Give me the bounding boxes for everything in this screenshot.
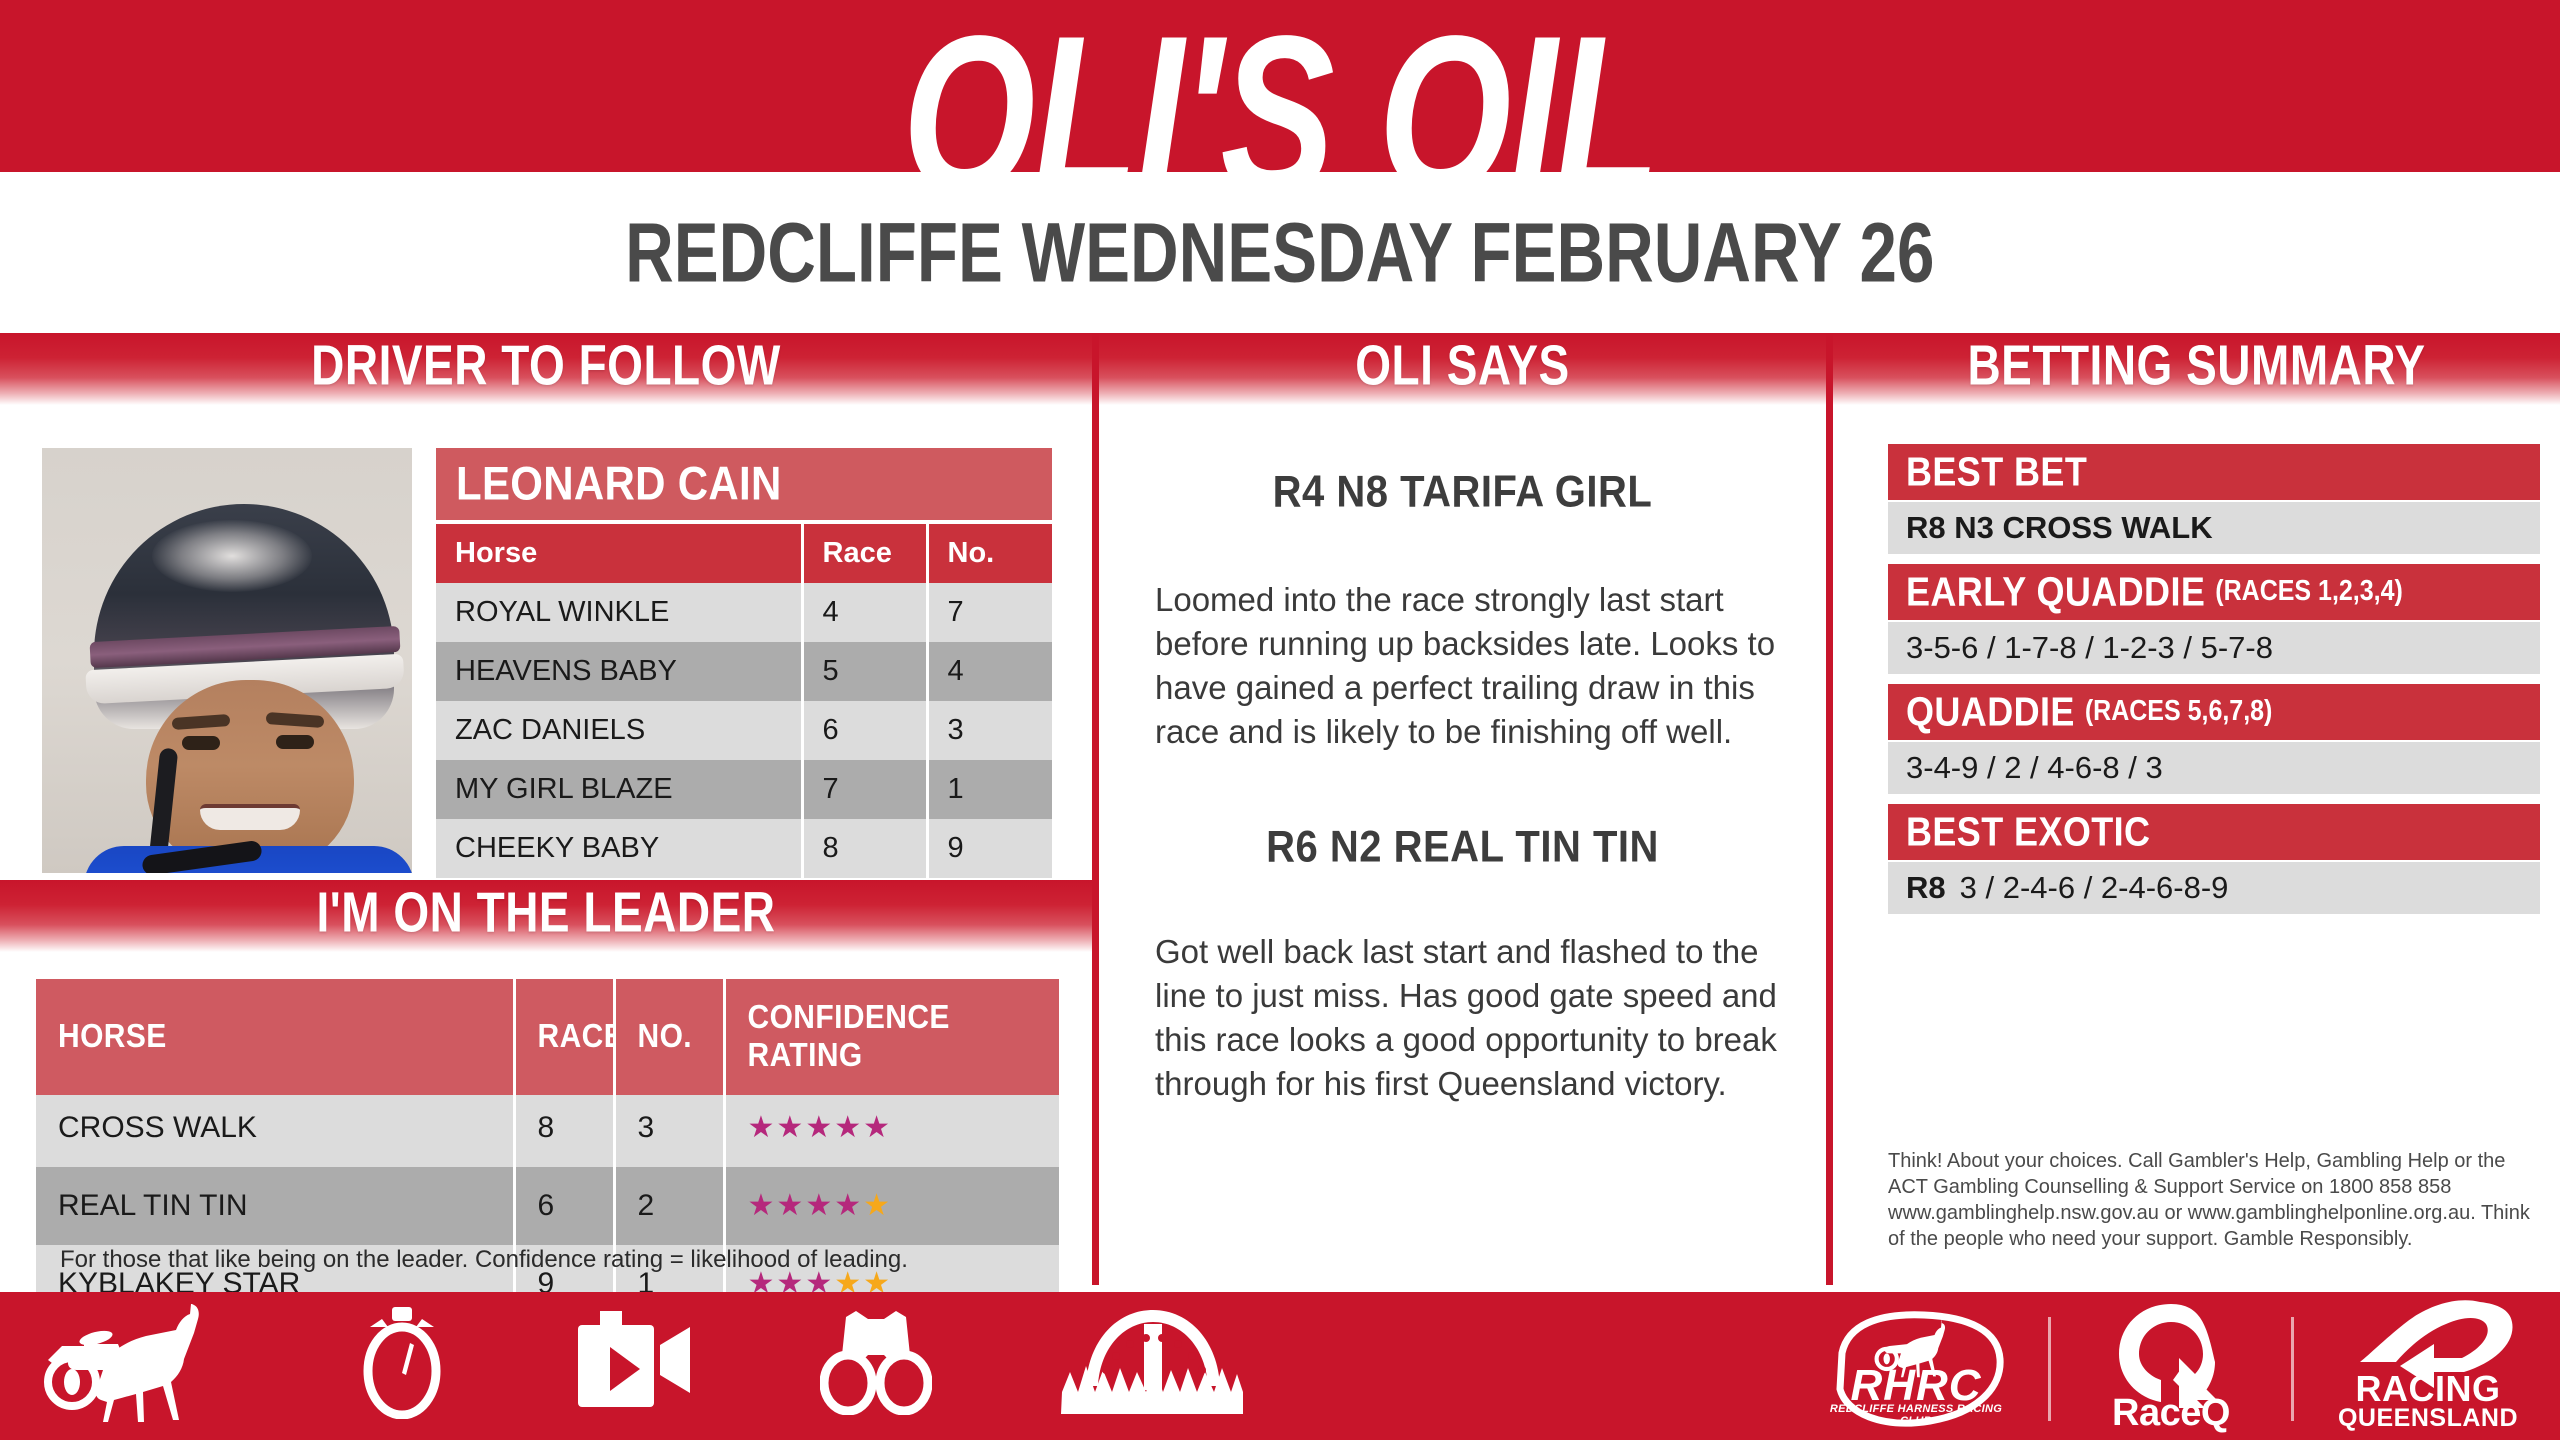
driver-horse-number: 1 bbox=[927, 760, 1052, 819]
confidence-stars: ★★★★★ bbox=[748, 1111, 893, 1144]
driver-horse-name: MY GIRL BLAZE bbox=[436, 760, 802, 819]
section-title-oli-says: OLI SAYS bbox=[1355, 337, 1569, 393]
section-title-driver-to-follow: DRIVER TO FOLLOW bbox=[311, 337, 781, 393]
oli-says-column: R4 N8 TARIFA GIRL bbox=[1099, 470, 1826, 515]
raceq-logo[interactable]: RaceQ bbox=[2087, 1306, 2255, 1432]
table-row: CHEEKY BABY89 bbox=[436, 819, 1052, 878]
betting-block-prefix: R8 bbox=[1906, 870, 1946, 906]
masthead-banner: OLI'S OIL bbox=[0, 0, 2560, 172]
driver-horse-name: CHEEKY BABY bbox=[436, 819, 802, 878]
betting-block-subtitle: (RACES 1,2,3,4) bbox=[2205, 574, 2403, 609]
betting-block-header-4: BEST EXOTIC bbox=[1888, 804, 2540, 860]
betting-block-header-1: BEST BET bbox=[1888, 444, 2540, 500]
driver-horse-number: 9 bbox=[927, 819, 1052, 878]
eye-left bbox=[182, 736, 220, 750]
star-filled-icon: ★ bbox=[863, 1111, 892, 1144]
confidence-rating-cell: ★★★★★ bbox=[724, 1089, 1059, 1167]
star-filled-icon: ★ bbox=[748, 1111, 777, 1144]
star-empty-icon: ★ bbox=[863, 1189, 892, 1222]
betting-block-selection: 3 / 2-4-6 / 2-4-6-8-9 bbox=[1960, 870, 2229, 906]
section-banner-im-on-the-leader: I'M ON THE LEADER bbox=[0, 880, 1092, 952]
leader-horse-name: CROSS WALK bbox=[36, 1089, 514, 1167]
betting-block-title: EARLY QUADDIE bbox=[1888, 568, 2205, 616]
col-header-horse: HORSE bbox=[36, 979, 514, 1095]
star-filled-icon: ★ bbox=[776, 1111, 805, 1144]
grandstand-icon[interactable] bbox=[1058, 1308, 1248, 1418]
section-banner-driver-to-follow: DRIVER TO FOLLOW bbox=[0, 333, 1092, 405]
driver-horse-number: 3 bbox=[927, 701, 1052, 760]
col-header-race: Race bbox=[802, 524, 927, 583]
section-banner-betting-summary: BETTING SUMMARY bbox=[1833, 333, 2560, 405]
leader-footnote: For those that like being on the leader.… bbox=[60, 1246, 908, 1274]
table-row: MY GIRL BLAZE71 bbox=[436, 760, 1052, 819]
rhrc-logo[interactable]: RHRC REDCLIFFE HARNESS RACING CLUB bbox=[1820, 1309, 2012, 1429]
helmet-decal bbox=[152, 520, 312, 592]
footer-logo-row: RHRC REDCLIFFE HARNESS RACING CLUB RaceQ bbox=[1820, 1306, 2526, 1432]
driver-photo bbox=[42, 448, 412, 873]
table-row: HEAVENS BABY54 bbox=[436, 642, 1052, 701]
betting-block-title: QUADDIE bbox=[1888, 688, 2075, 736]
betting-block-header-2: EARLY QUADDIE(RACES 1,2,3,4) bbox=[1888, 564, 2540, 620]
racing-queensland-logo[interactable]: RACING QUEENSLAND bbox=[2330, 1306, 2526, 1432]
mouth bbox=[200, 804, 300, 830]
stopwatch-icon[interactable] bbox=[356, 1307, 448, 1419]
footer-bar: RHRC REDCLIFFE HARNESS RACING CLUB RaceQ bbox=[0, 1292, 2560, 1440]
col-header-no: NO. bbox=[614, 979, 724, 1095]
star-filled-icon: ★ bbox=[805, 1189, 834, 1222]
driver-horses-table: Horse Race No. ROYAL WINKLE47HEAVENS BAB… bbox=[436, 524, 1052, 878]
harness-horse-icon[interactable] bbox=[40, 1304, 230, 1422]
driver-horse-name: HEAVENS BABY bbox=[436, 642, 802, 701]
star-filled-icon: ★ bbox=[834, 1189, 863, 1222]
tip-heading-1: R4 N8 TARIFA GIRL bbox=[1099, 467, 1826, 517]
leader-race-number: 6 bbox=[514, 1167, 614, 1245]
table-header-row: HORSE RACE NO. CONFIDENCE RATING bbox=[36, 985, 1059, 1089]
leader-horse-number: 2 bbox=[614, 1167, 724, 1245]
logo-separator-2 bbox=[2291, 1317, 2294, 1421]
betting-block-value-3: 3-4-9 / 2 / 4-6-8 / 3 bbox=[1888, 742, 2540, 794]
driver-race-number: 5 bbox=[802, 642, 927, 701]
table-header-row: Horse Race No. bbox=[436, 524, 1052, 583]
star-filled-icon: ★ bbox=[776, 1189, 805, 1222]
driver-horse-number: 7 bbox=[927, 583, 1052, 642]
logo-separator-1 bbox=[2048, 1317, 2051, 1421]
star-filled-icon: ★ bbox=[834, 1111, 863, 1144]
driver-horse-name: ROYAL WINKLE bbox=[436, 583, 802, 642]
confidence-rating-cell: ★★★★★ bbox=[724, 1167, 1059, 1245]
col-header-no: No. bbox=[927, 524, 1052, 583]
binoculars-icon[interactable] bbox=[820, 1311, 932, 1415]
column-divider-right bbox=[1826, 333, 1833, 1285]
table-row: ZAC DANIELS63 bbox=[436, 701, 1052, 760]
betting-block-title: BEST EXOTIC bbox=[1888, 808, 2150, 856]
col-header-horse: Horse bbox=[436, 524, 802, 583]
oli-says-tip-2: R6 N2 REAL TIN TIN bbox=[1099, 825, 1826, 870]
driver-name: LEONARD CAIN bbox=[436, 457, 782, 511]
tip-body-2: Got well back last start and flashed to … bbox=[1155, 930, 1800, 1106]
driver-race-number: 6 bbox=[802, 701, 927, 760]
betting-block-value-1: R8 N3 CROSS WALK bbox=[1888, 502, 2540, 554]
betting-block-title: BEST BET bbox=[1888, 448, 2087, 496]
driver-horse-number: 4 bbox=[927, 642, 1052, 701]
table-row: REAL TIN TIN62★★★★★ bbox=[36, 1167, 1059, 1245]
driver-race-number: 8 bbox=[802, 819, 927, 878]
rhrc-subtext: REDCLIFFE HARNESS RACING CLUB bbox=[1820, 1403, 2012, 1427]
responsible-gambling-disclaimer: Think! About your choices. Call Gambler'… bbox=[1888, 1148, 2538, 1252]
leader-horse-number: 3 bbox=[614, 1089, 724, 1167]
section-title-im-on-the-leader: I'M ON THE LEADER bbox=[317, 884, 776, 940]
raceq-wordmark: RaceQ bbox=[2087, 1392, 2255, 1435]
betting-block-value-4: R83 / 2-4-6 / 2-4-6-8-9 bbox=[1888, 862, 2540, 914]
column-divider-left bbox=[1092, 333, 1099, 1285]
leader-race-number: 8 bbox=[514, 1089, 614, 1167]
driver-horse-name: ZAC DANIELS bbox=[436, 701, 802, 760]
betting-block-header-3: QUADDIE(RACES 5,6,7,8) bbox=[1888, 684, 2540, 740]
video-camera-icon[interactable] bbox=[574, 1311, 694, 1415]
star-filled-icon: ★ bbox=[805, 1111, 834, 1144]
leader-horse-name: REAL TIN TIN bbox=[36, 1167, 514, 1245]
driver-name-band: LEONARD CAIN bbox=[436, 448, 1052, 520]
betting-block-subtitle: (RACES 5,6,7,8) bbox=[2075, 694, 2273, 729]
col-header-confidence: CONFIDENCE RATING bbox=[724, 979, 1059, 1095]
table-row: CROSS WALK83★★★★★ bbox=[36, 1089, 1059, 1167]
meeting-strip: REDCLIFFE WEDNESDAY FEBRUARY 26 bbox=[0, 172, 2560, 332]
infographic-page: OLI'S OIL REDCLIFFE WEDNESDAY FEBRUARY 2… bbox=[0, 0, 2560, 1440]
section-title-betting-summary: BETTING SUMMARY bbox=[1967, 337, 2425, 393]
tip-heading-2: R6 N2 REAL TIN TIN bbox=[1099, 822, 1826, 872]
star-filled-icon: ★ bbox=[748, 1189, 777, 1222]
table-row: ROYAL WINKLE47 bbox=[436, 583, 1052, 642]
footer-icon-row bbox=[40, 1304, 1248, 1422]
meeting-title: REDCLIFFE WEDNESDAY FEBRUARY 26 bbox=[625, 203, 1934, 300]
section-banner-oli-says: OLI SAYS bbox=[1099, 333, 1826, 405]
racing-queensland-line2: QUEENSLAND bbox=[2330, 1404, 2526, 1433]
confidence-stars: ★★★★★ bbox=[748, 1189, 893, 1222]
betting-block-value-2: 3-5-6 / 1-7-8 / 1-2-3 / 5-7-8 bbox=[1888, 622, 2540, 674]
col-header-race: RACE bbox=[514, 979, 614, 1095]
driver-race-number: 4 bbox=[802, 583, 927, 642]
eye-right bbox=[276, 735, 314, 749]
tip-body-1: Loomed into the race strongly last start… bbox=[1155, 578, 1805, 754]
driver-race-number: 7 bbox=[802, 760, 927, 819]
